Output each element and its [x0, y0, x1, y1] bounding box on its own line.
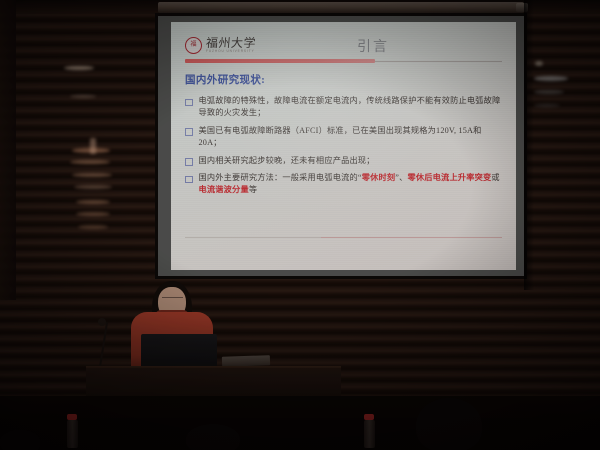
conference-room-scene: 福 福州大学 FUZHOU UNIVERSITY 引言 国内外研究现状: 电弧故…: [0, 0, 600, 450]
scene-vignette: [0, 0, 600, 450]
